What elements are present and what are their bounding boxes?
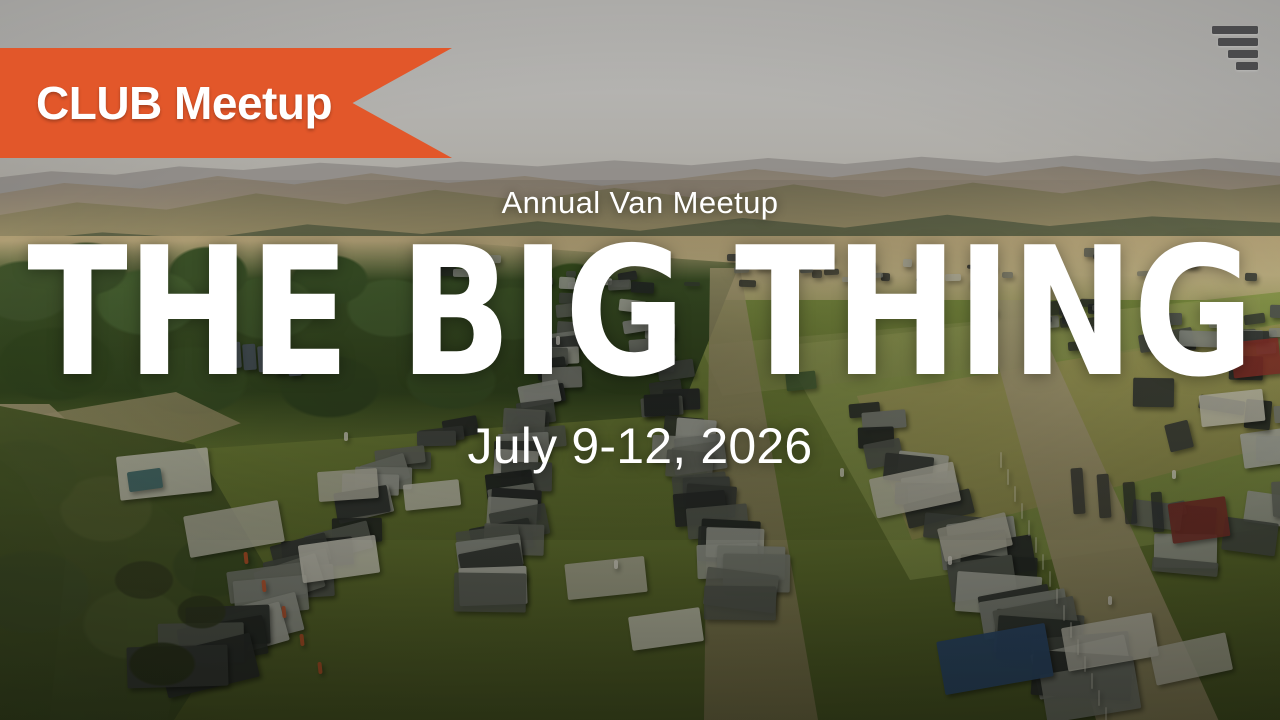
brand-logo[interactable] bbox=[1212, 26, 1258, 70]
ribbon-label: CLUB Meetup bbox=[0, 80, 332, 126]
logo-bar-2 bbox=[1218, 38, 1258, 46]
logo-bar-3 bbox=[1228, 50, 1258, 58]
event-banner: CLUB Meetup Annual Van Meetup THE BIG TH… bbox=[0, 0, 1280, 720]
logo-bar-4 bbox=[1236, 62, 1258, 70]
event-date: July 9-12, 2026 bbox=[468, 421, 813, 471]
logo-bar-1 bbox=[1212, 26, 1258, 34]
event-title: THE BIG THING bbox=[27, 244, 1253, 383]
